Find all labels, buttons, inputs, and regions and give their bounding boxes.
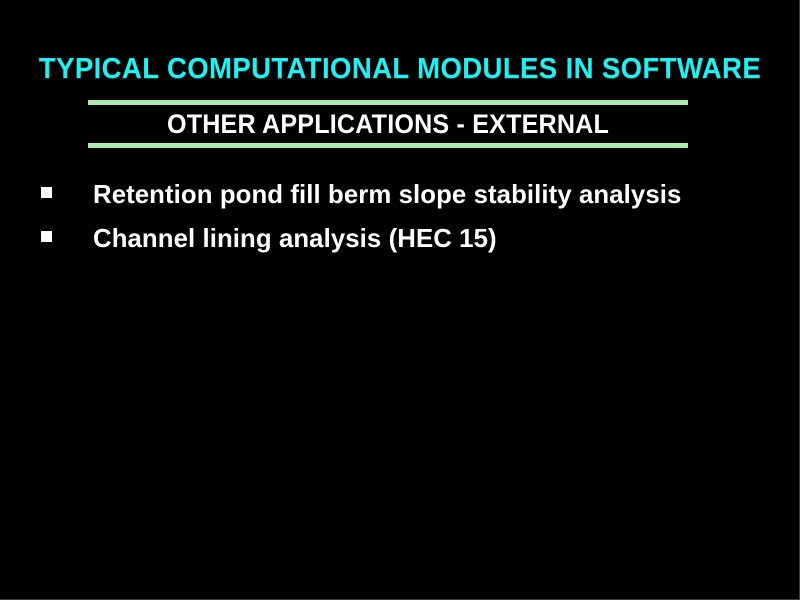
subtitle-rule-bottom: [88, 143, 688, 148]
square-bullet-icon: [41, 187, 52, 198]
bullet-item-label: Retention pond fill berm slope stability…: [93, 172, 681, 216]
bullet-list: Retention pond fill berm slope stability…: [0, 172, 800, 260]
list-item: Channel lining analysis (HEC 15): [0, 216, 800, 260]
slide-subtitle: OTHER APPLICATIONS - EXTERNAL: [109, 105, 667, 143]
subtitle-band: OTHER APPLICATIONS - EXTERNAL: [88, 100, 688, 148]
slide-content-area: [0, 262, 800, 600]
presentation-slide: TYPICAL COMPUTATIONAL MODULES IN SOFTWAR…: [0, 0, 800, 600]
slide-title: TYPICAL COMPUTATIONAL MODULES IN SOFTWAR…: [20, 52, 780, 86]
list-item: Retention pond fill berm slope stability…: [0, 172, 800, 216]
square-bullet-icon: [41, 231, 52, 242]
bullet-item-label: Channel lining analysis (HEC 15): [93, 216, 497, 260]
